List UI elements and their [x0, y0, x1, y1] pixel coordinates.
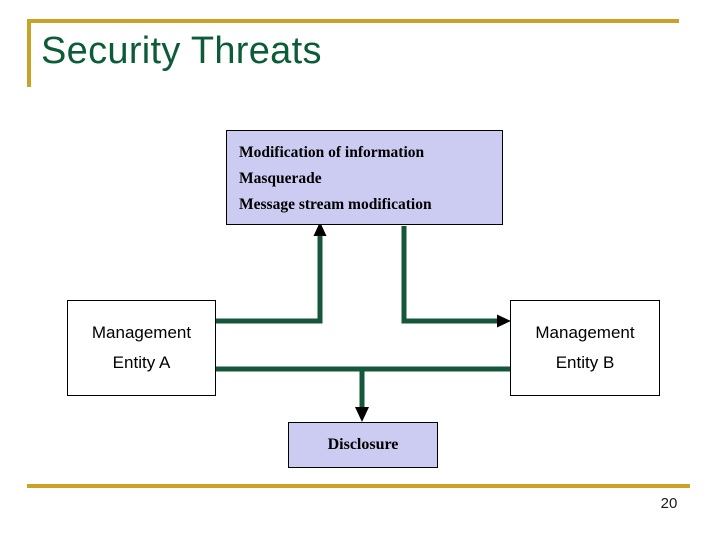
title-corner-vertical-rule: [27, 19, 31, 87]
title-corner-horizontal-rule: [27, 19, 679, 23]
management-entity-b-box: Management Entity B: [510, 300, 660, 396]
connector-entities-to-disclosure: [216, 369, 510, 422]
threat-item-modification-of-information: Modification of information: [239, 140, 502, 166]
management-entity-b-line1: Management: [535, 318, 634, 348]
threat-item-message-stream-modification: Message stream modification: [239, 192, 502, 218]
management-entity-a-box: Management Entity A: [67, 300, 216, 396]
threats-box: Modification of information Masquerade M…: [226, 130, 503, 225]
disclosure-box: Disclosure: [288, 422, 438, 468]
connector-entity-a-to-threats: [216, 222, 327, 321]
connector-threats-to-entity-b: [404, 226, 511, 328]
threat-item-masquerade: Masquerade: [239, 166, 502, 192]
page-title: Security Threats: [41, 27, 322, 75]
management-entity-a-line1: Management: [92, 318, 191, 348]
management-entity-a-line2: Entity A: [113, 348, 171, 378]
arrowhead-right-to-entity-b: [497, 315, 511, 328]
page-number: 20: [648, 495, 690, 512]
management-entity-b-line2: Entity B: [556, 348, 615, 378]
slide-canvas: Security Threats Modification of informa…: [0, 0, 720, 540]
arrowhead-down-to-disclosure: [355, 407, 369, 422]
footer-rule: [27, 484, 690, 488]
disclosure-label: Disclosure: [328, 436, 399, 454]
